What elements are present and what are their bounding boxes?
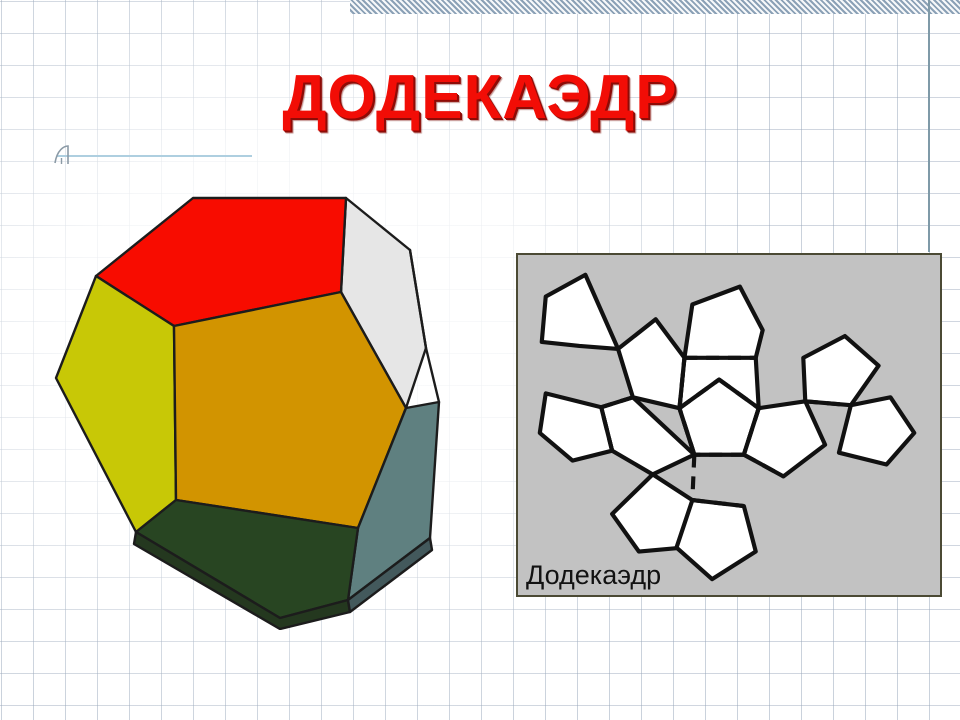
dodecahedron-solid-svg — [48, 180, 518, 630]
slide-canvas: ДОДЕКАЭДР — [0, 0, 960, 720]
dodecahedron-net-panel: Додекаэдр — [516, 253, 942, 597]
net-face-bottom — [676, 500, 755, 579]
net-face-upper-flap — [684, 287, 762, 358]
face-left — [56, 276, 176, 532]
net-face-far-right — [839, 397, 914, 464]
page-title: ДОДЕКАЭДР — [0, 62, 960, 133]
dodecahedron-solid-figure — [48, 180, 518, 630]
net-face-right-upper — [803, 336, 878, 405]
decorative-texture-band — [350, 0, 960, 14]
horizontal-guide-line — [57, 155, 252, 157]
pencil-mark-icon — [52, 144, 80, 164]
net-face-lower-left — [540, 393, 612, 460]
net-caption: Додекаэдр — [526, 560, 661, 591]
net-face-upper-left — [618, 319, 684, 408]
net-face-far-upper-left — [542, 275, 618, 349]
dodecahedron-net-svg — [518, 255, 940, 595]
